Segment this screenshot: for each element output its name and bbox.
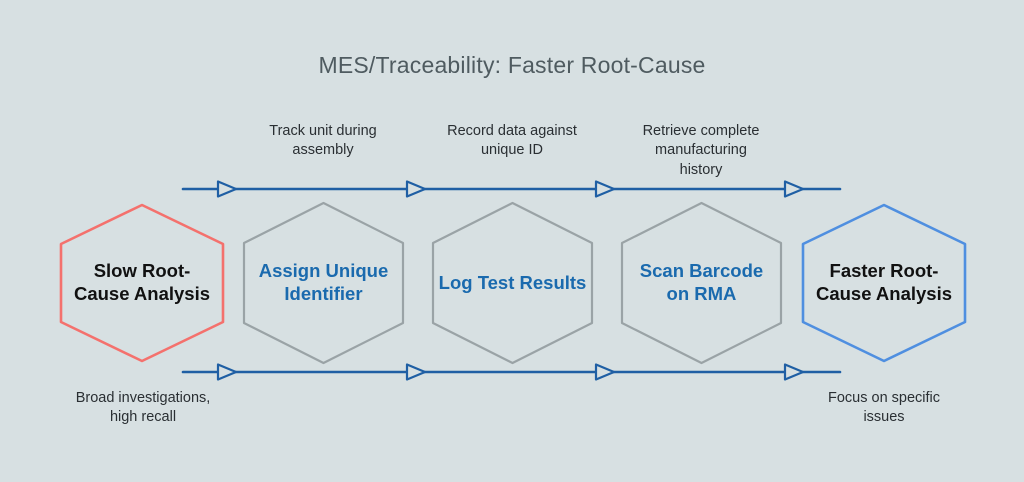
bottom-arrow-row [183,365,840,380]
hexagon-outline-end [800,203,968,363]
end-node-caption: Focus on specific issues [793,389,975,428]
hex-node-assign-unique-identifier[interactable]: Assign Unique Identifier [242,201,405,365]
diagram-canvas: MES/Traceability: Faster Root-Cause Trac… [0,0,1024,482]
arrowhead-icon [218,182,236,197]
hex-node-log-test-results[interactable]: Log Test Results [431,201,594,365]
hex-node-scan-barcode-on-rma[interactable]: Scan Barcode on RMA [620,201,783,365]
hexagon-outline-step-3 [620,201,783,365]
top-arrow-row [183,182,840,197]
arrowhead-icon [596,182,614,197]
arrowhead-icon [596,365,614,380]
start-node-caption: Broad investigations, high recall [52,389,234,428]
step-caption-1: Track unit during assembly [238,122,408,161]
hex-node-slow-root-cause-analysis[interactable]: Slow Root- Cause Analysis [58,203,226,363]
hexagon-outline-step-2 [431,201,594,365]
arrowhead-icon [407,365,425,380]
arrowhead-icon [218,365,236,380]
hexagon-outline-start [58,203,226,363]
step-caption-3: Retrieve complete manufacturing history [616,122,786,180]
hex-node-faster-root-cause-analysis[interactable]: Faster Root- Cause Analysis [800,203,968,363]
arrowhead-icon [785,365,803,380]
step-caption-2: Record data against unique ID [427,122,597,161]
arrowhead-icon [407,182,425,197]
arrowhead-icon [785,182,803,197]
hexagon-outline-step-1 [242,201,405,365]
